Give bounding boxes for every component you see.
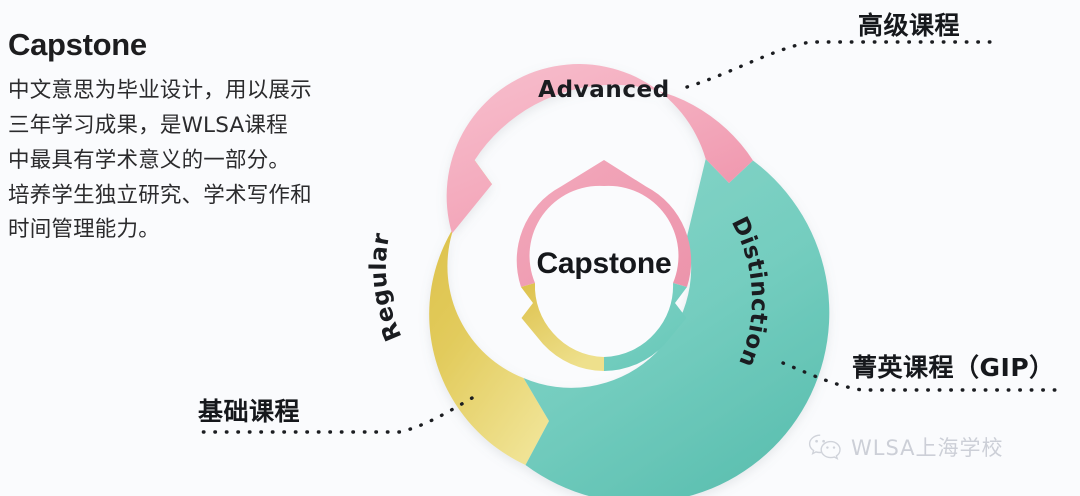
segment-label-regular: Regular bbox=[366, 231, 407, 345]
watermark-text: WLSA上海学校 bbox=[851, 432, 1004, 462]
callout-label-advanced[interactable]: 高级课程 bbox=[858, 6, 960, 42]
leader-line-advanced bbox=[687, 42, 1000, 87]
center-label: Capstone bbox=[536, 247, 671, 280]
watermark: WLSA上海学校 bbox=[808, 432, 1004, 462]
callout-label-gip[interactable]: 菁英课程（GIP） bbox=[852, 348, 1055, 384]
wechat-icon bbox=[808, 433, 842, 461]
segment-label-advanced: Advanced bbox=[538, 77, 670, 103]
inner-segment-regular bbox=[521, 283, 604, 371]
donut-chart: Advanced Regular Distinction Capstone bbox=[0, 0, 1080, 496]
callout-label-regular[interactable]: 基础课程 bbox=[198, 392, 300, 428]
infographic-canvas: Capstone 中文意思为毕业设计，用以展示 三年学习成果，是WLSA课程 中… bbox=[0, 0, 1080, 496]
